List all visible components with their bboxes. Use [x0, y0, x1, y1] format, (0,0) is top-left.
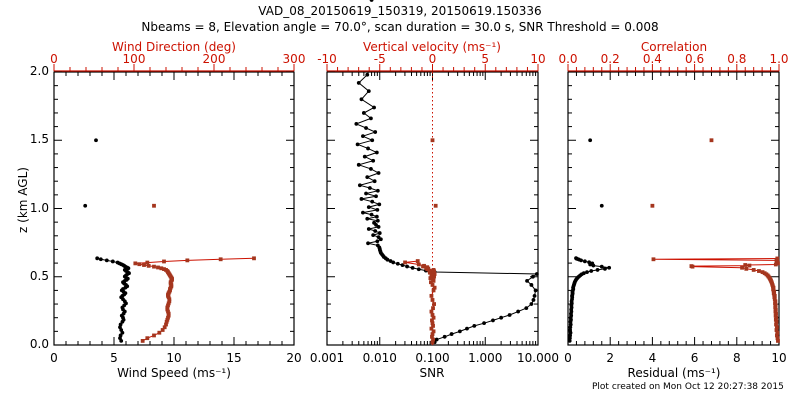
axis-tick-label: 10 — [771, 351, 786, 365]
axis-tick-label: 5 — [481, 52, 489, 66]
axis-tick-label: 0 — [564, 351, 572, 365]
axis-tick-label: 0.0 — [30, 337, 49, 351]
axis-tick-label: 1.0 — [769, 52, 788, 66]
axis-tick-label: 0.010 — [363, 351, 397, 365]
panel2-xlabel: SNR — [420, 366, 445, 380]
axis-tick-label: 0.4 — [643, 52, 662, 66]
axis-tick-label: 1.5 — [30, 132, 49, 146]
axis-tick-label: 0.0 — [558, 52, 577, 66]
axis-tick-label: 1.000 — [468, 351, 502, 365]
axis-tick-label: 15 — [226, 351, 241, 365]
plot-canvas — [0, 0, 800, 400]
panel3-xlabel: Residual (ms⁻¹) — [628, 366, 721, 380]
axis-tick-label: 8 — [733, 351, 741, 365]
axis-tick-label: 2.0 — [30, 64, 49, 78]
axis-tick-label: -10 — [317, 52, 337, 66]
axis-tick-label: 200 — [203, 52, 226, 66]
axis-tick-label: 2 — [606, 351, 614, 365]
axis-tick-label: 300 — [283, 52, 306, 66]
axis-tick-label: 10 — [530, 52, 545, 66]
axis-tick-label: 20 — [286, 351, 301, 365]
axis-tick-label: 0.6 — [685, 52, 704, 66]
axis-tick-label: 100 — [123, 52, 146, 66]
axis-tick-label: 0.8 — [727, 52, 746, 66]
axis-tick-label: 4 — [649, 351, 657, 365]
axis-tick-label: 1.0 — [30, 201, 49, 215]
axis-tick-label: 6 — [691, 351, 699, 365]
axis-tick-label: 0 — [50, 351, 58, 365]
axis-tick-label: 0 — [50, 52, 58, 66]
axis-tick-label: 0.100 — [415, 351, 449, 365]
axis-tick-label: 10 — [166, 351, 181, 365]
panel1-xlabel: Wind Speed (ms⁻¹) — [117, 366, 231, 380]
axis-tick-label: 0.5 — [30, 269, 49, 283]
axis-tick-label: 0.2 — [601, 52, 620, 66]
axis-tick-label: 5 — [110, 351, 118, 365]
axis-tick-label: -5 — [374, 52, 386, 66]
axis-tick-label: 0 — [429, 52, 437, 66]
axis-tick-label: 0.001 — [310, 351, 344, 365]
axis-tick-label: 10.000 — [517, 351, 559, 365]
